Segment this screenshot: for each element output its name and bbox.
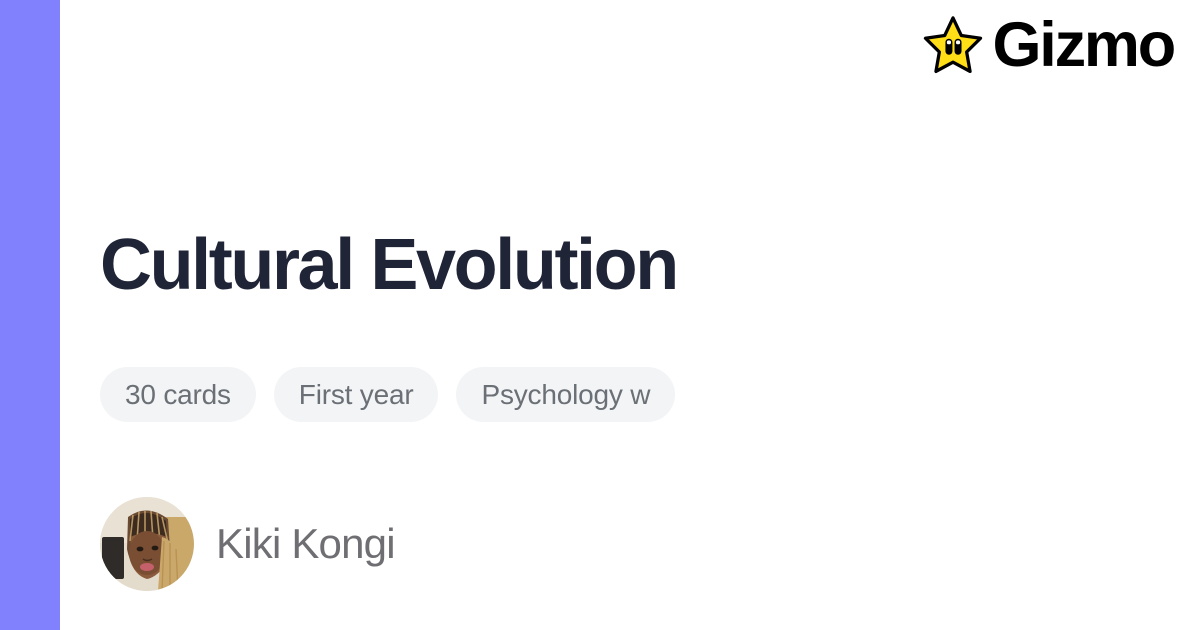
chip-subject: Psychology w [456, 367, 675, 422]
deck-title: Cultural Evolution [100, 228, 677, 304]
author-name: Kiki Kongi [216, 523, 395, 565]
chip-year-level: First year [274, 367, 439, 422]
author-row: Kiki Kongi [100, 497, 395, 591]
avatar [100, 497, 194, 591]
chip-card-count: 30 cards [100, 367, 256, 422]
deck-meta-chips: 30 cards First year Psychology w [100, 367, 720, 422]
left-accent-bar [0, 0, 60, 630]
og-share-card: Gizmo Cultural Evolution 30 cards First … [0, 0, 1200, 630]
card-content: Cultural Evolution 30 cards First year P… [100, 0, 1130, 630]
